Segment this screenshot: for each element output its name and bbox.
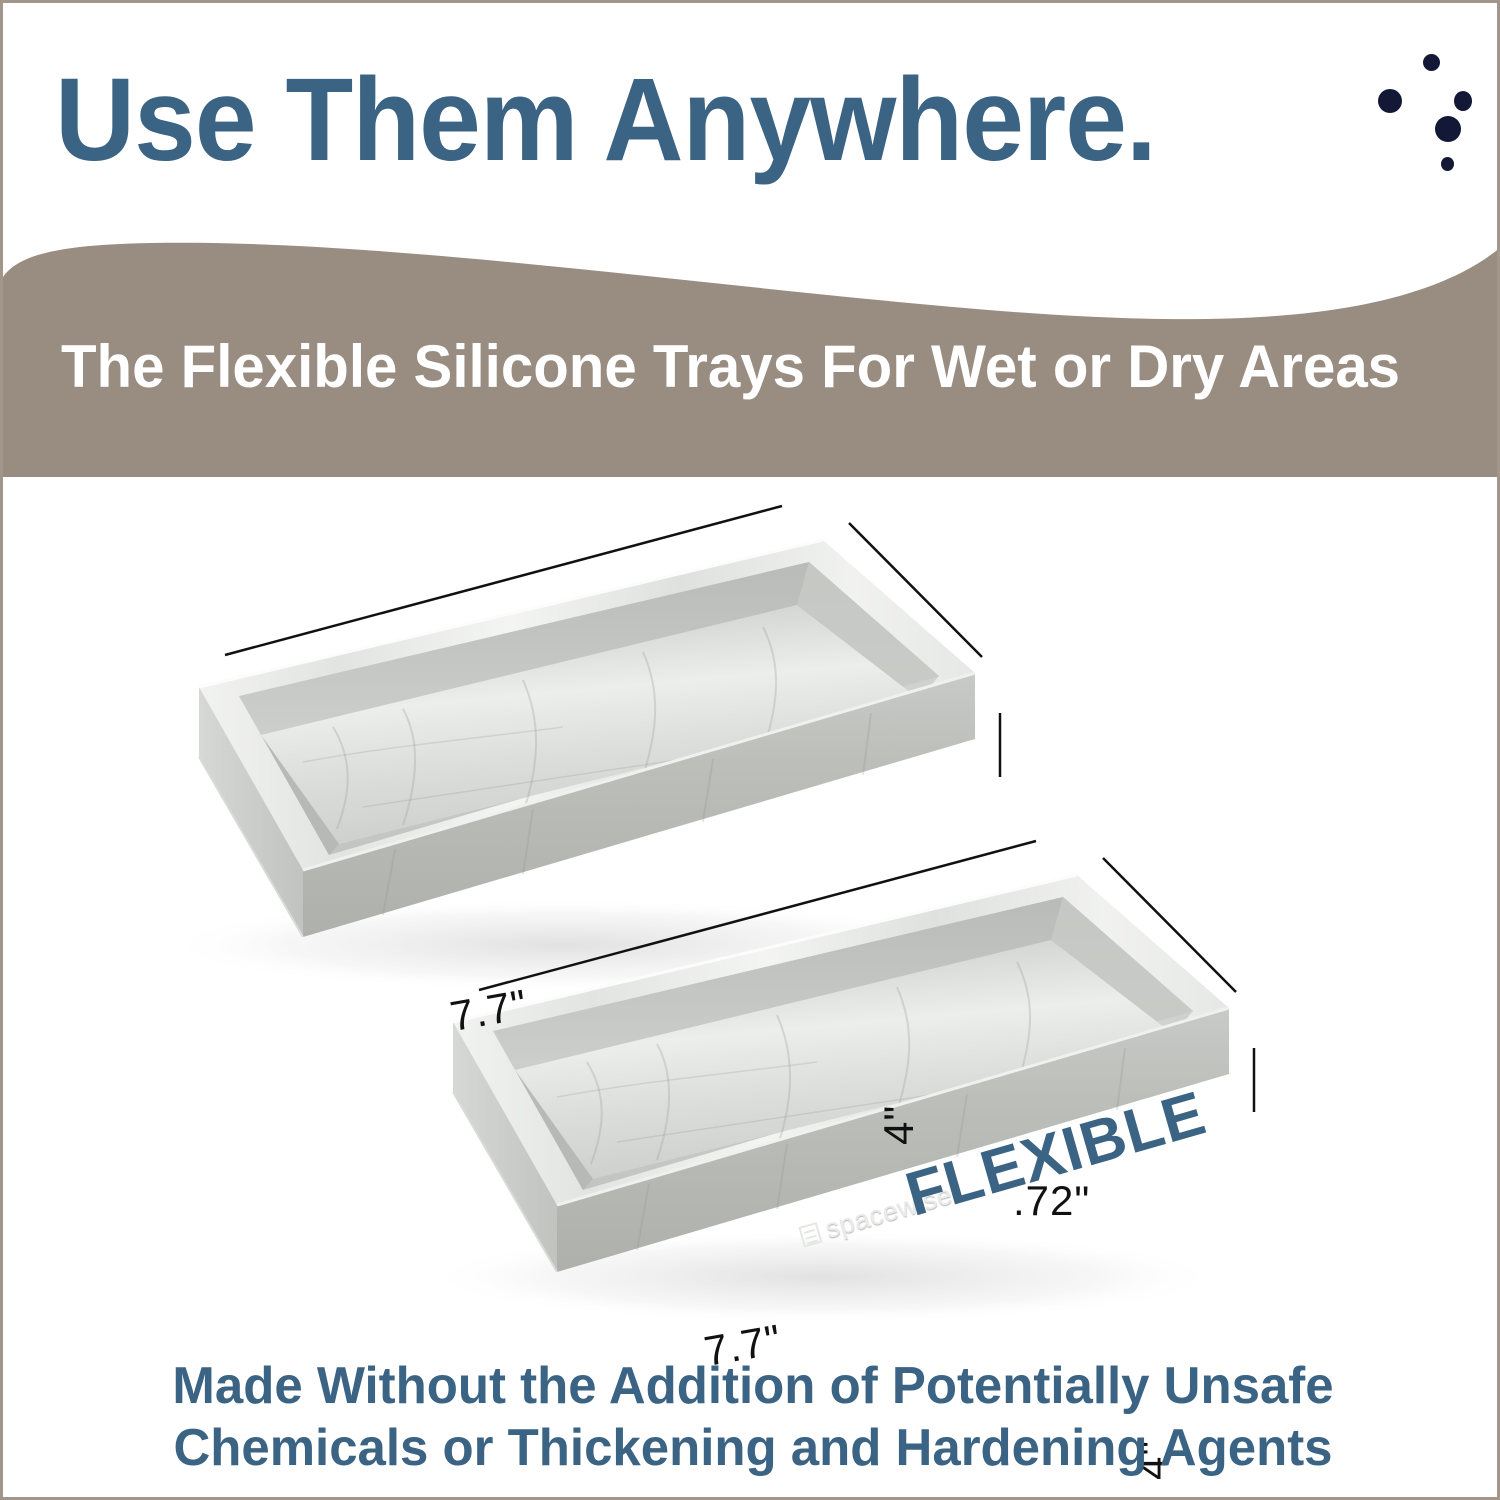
footer-claim-line-1: Made Without the Addition of Potentially… — [18, 1355, 1488, 1417]
tray-upper-shape — [163, 540, 975, 991]
decorative-dot-cluster — [1343, 23, 1500, 213]
footer-claim-line-2: Chemicals or Thickening and Hardening Ag… — [18, 1417, 1488, 1479]
dot-small-top-icon — [1423, 54, 1440, 71]
dot-large-center-icon — [1435, 116, 1461, 142]
tray-illustration — [3, 477, 1500, 1347]
banner-subtitle: The Flexible Silicone Trays For Wet or D… — [61, 331, 1419, 403]
infographic-page: Use Them Anywhere. The Flexible Silicone… — [0, 0, 1500, 1500]
footer-claim: Made Without the Addition of Potentially… — [3, 1355, 1500, 1479]
tray-upper-width-label: 4" — [875, 1105, 923, 1145]
dot-tiny-bottom-icon — [1441, 157, 1454, 171]
dot-small-right-icon — [1454, 91, 1472, 111]
subtitle-banner: The Flexible Silicone Trays For Wet or D… — [3, 231, 1500, 477]
product-scene: 7.7" 4" .72" 7.7" 4" .72" spacewiser spa… — [3, 477, 1500, 1347]
page-headline: Use Them Anywhere. — [55, 55, 1230, 185]
dot-medium-left-icon — [1378, 89, 1402, 113]
